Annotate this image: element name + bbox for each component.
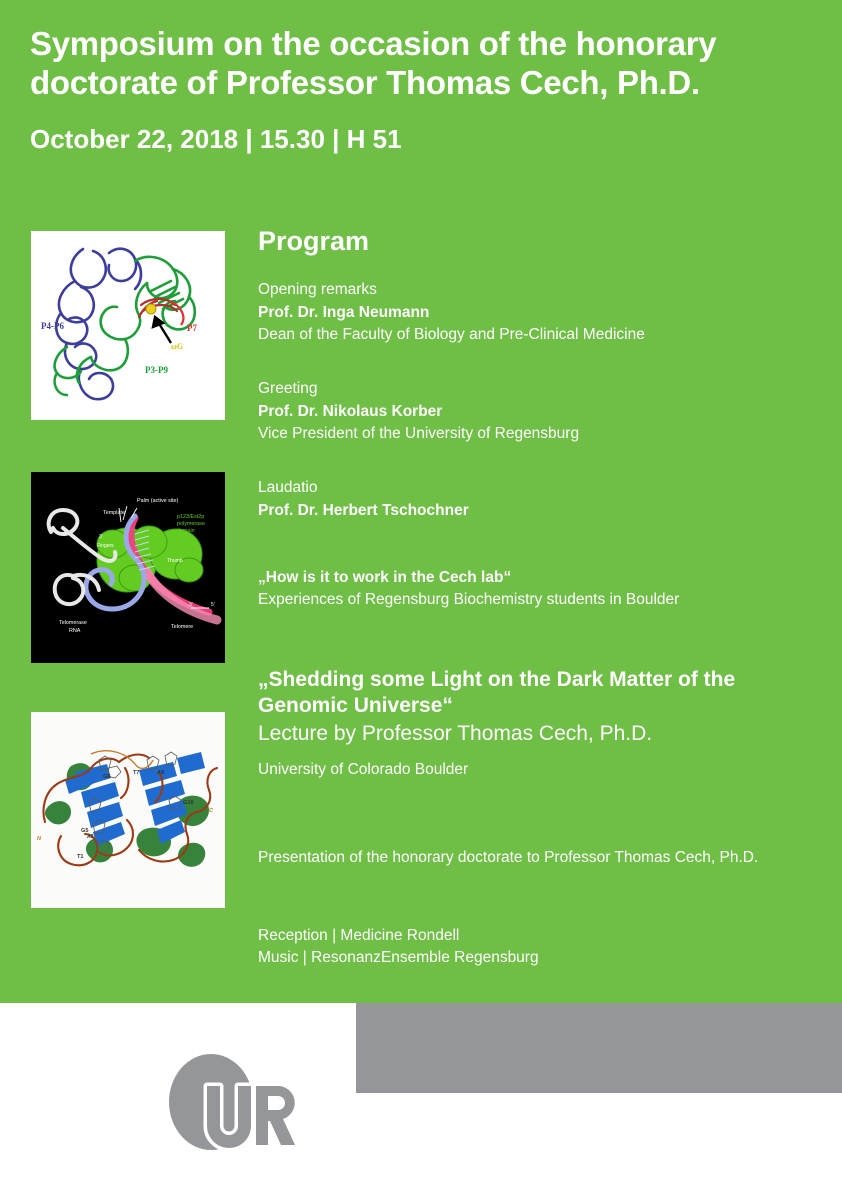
figure2-label-thumb: Thumb (167, 558, 183, 564)
figure2-label-5prime: 5' (211, 602, 215, 608)
telomerase-diagram-illustration: Palm (active site) Template Fingers Thum… (31, 472, 225, 663)
protein-structure-illustration: N C T1 T7 G5 G6 G10 A9 A3 (31, 712, 225, 908)
spacer (258, 891, 828, 925)
program-closing-info: Reception | Medicine Rondell Music | Res… (258, 925, 828, 969)
program-column: Program Opening remarks Prof. Dr. Inga N… (258, 225, 828, 991)
poster-root: Symposium on the occasion of the honorar… (0, 0, 842, 1191)
spacer (258, 803, 828, 847)
figure2-label-3prime-inner: 3' (99, 534, 103, 540)
program-entry-student-talk: „How is it to work in the Cech lab“ Expe… (258, 566, 828, 611)
figure-telomerase-diagram: Palm (active site) Template Fingers Thum… (31, 472, 225, 663)
university-logo (148, 1040, 318, 1155)
figure1-label-p4p6: P4-P6 (41, 321, 64, 331)
figure2-label-polymerase: polymerase (177, 521, 205, 527)
figure2-label-rna: RNA (69, 628, 81, 634)
program-entry-greeting: Greeting Prof. Dr. Nikolaus Korber Vice … (258, 378, 828, 445)
program-entry-opening-remarks: Opening remarks Prof. Dr. Inga Neumann D… (258, 279, 828, 346)
closing-reception: Reception | Medicine Rondell (258, 925, 828, 947)
figure3-label-t7: T7 (133, 770, 140, 776)
figure3-label-a3: A3 (87, 834, 94, 840)
student-talk-title: „How is it to work in the Cech lab“ (258, 566, 828, 589)
lecture-institution: University of Colorado Boulder (258, 759, 828, 781)
figure2-label-p123-est2p: p123/Est2p (177, 514, 204, 520)
figure2-label-palm: Palm (active site) (137, 498, 179, 504)
lecture-title-line1: „Shedding some Light on the Dark Matter … (258, 667, 828, 693)
entry-role: Opening remarks (258, 279, 828, 301)
figure3-label-g10: G10 (183, 800, 194, 806)
figure2-label-telomere: Telomere (171, 624, 193, 630)
figure3-label-t1: T1 (77, 854, 84, 860)
entry-affiliation: Vice President of the University of Rege… (258, 423, 828, 445)
ribozyme-structure-illustration: P4-P6 P3-P9 P7 ωG (31, 231, 225, 420)
lecture-speaker: Lecture by Professor Thomas Cech, Ph.D. (258, 719, 828, 749)
lecture-title-line2: Genomic Universe“ (258, 693, 828, 719)
student-talk-description: Experiences of Regensburg Biochemistry s… (258, 589, 828, 611)
figure2-label-template: Template (103, 510, 125, 516)
program-entry-presentation: Presentation of the honorary doctorate t… (258, 847, 828, 869)
event-datetime-venue: October 22, 2018 | 15.30 | H 51 (30, 102, 830, 154)
figure3-label-a9: A9 (157, 770, 164, 776)
program-entry-laudatio: Laudatio Prof. Dr. Herbert Tschochner (258, 477, 828, 522)
figure-ribozyme-structure: P4-P6 P3-P9 P7 ωG (31, 231, 225, 420)
presentation-text: Presentation of the honorary doctorate t… (258, 847, 828, 869)
figure2-label-domain: domain (177, 528, 195, 534)
spacer (258, 467, 828, 477)
figure3-label-g6: G6 (103, 774, 110, 780)
entry-affiliation: Dean of the Faculty of Biology and Pre-C… (258, 324, 828, 346)
closing-music: Music | ResonanzEnsemble Regensburg (258, 947, 828, 969)
ur-logo-mark (148, 1040, 318, 1155)
spacer (258, 544, 828, 566)
entry-name: Prof. Dr. Herbert Tschochner (258, 499, 828, 522)
entry-name: Prof. Dr. Nikolaus Korber (258, 400, 828, 423)
entry-role: Greeting (258, 378, 828, 400)
program-entry-keynote-lecture: „Shedding some Light on the Dark Matter … (258, 667, 828, 781)
figure2-label-3prime: 3' (189, 602, 193, 608)
spacer (258, 633, 828, 667)
footer-gray-bar (356, 1003, 842, 1093)
figure1-label-omega-g: ωG (171, 342, 183, 351)
entry-name: Prof. Dr. Inga Neumann (258, 301, 828, 324)
program-heading: Program (258, 225, 828, 257)
figure1-label-p7: P7 (187, 323, 197, 333)
poster-header: Symposium on the occasion of the honorar… (30, 24, 830, 154)
figure2-label-fingers: Fingers (97, 543, 114, 549)
figure2-label-telomerase: Telomerase (59, 620, 87, 626)
page-title: Symposium on the occasion of the honorar… (30, 24, 830, 102)
figure1-label-p3p9: P3-P9 (145, 365, 168, 375)
figure-protein-structure: N C T1 T7 G5 G6 G10 A9 A3 (31, 712, 225, 908)
spacer (258, 368, 828, 378)
entry-role: Laudatio (258, 477, 828, 499)
